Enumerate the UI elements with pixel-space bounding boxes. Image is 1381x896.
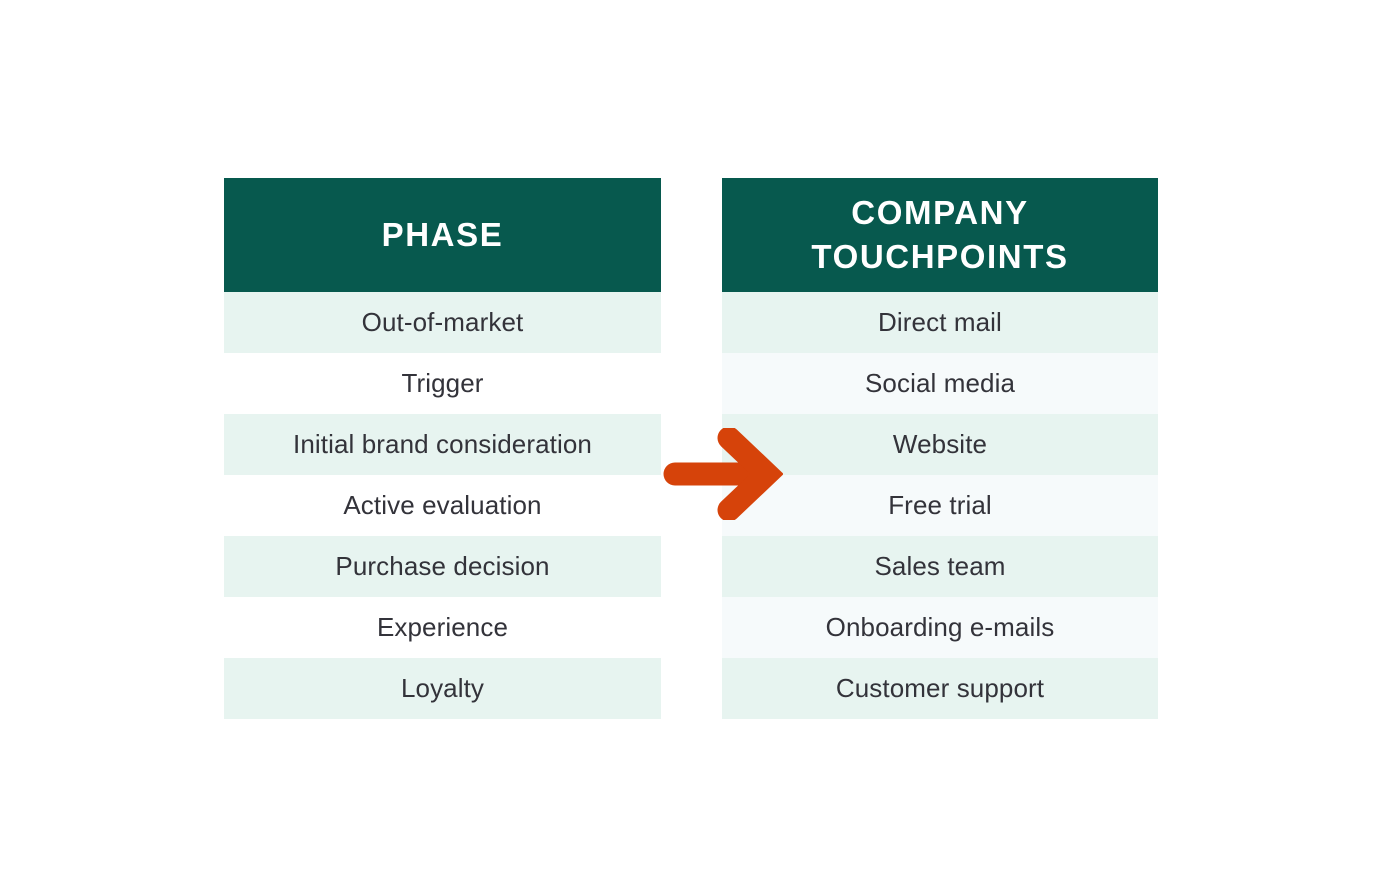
right-arrow-glyph — [663, 428, 783, 520]
phase-row-4: Active evaluation — [224, 475, 661, 536]
company-touchpoints-table: COMPANY TOUCHPOINTS Direct mail Social m… — [722, 178, 1158, 719]
phase-row-4-label: Active evaluation — [343, 490, 541, 521]
phase-table: PHASE Out-of-market Trigger Initial bran… — [224, 178, 661, 719]
touchpoints-header-line-2: TOUCHPOINTS — [811, 235, 1068, 279]
phase-row-5: Purchase decision — [224, 536, 661, 597]
phase-row-5-label: Purchase decision — [335, 551, 549, 582]
touchpoint-row-3: Website — [722, 414, 1158, 475]
phase-header-line-1: PHASE — [382, 213, 504, 257]
touchpoints-header-line-1: COMPANY — [811, 191, 1068, 235]
phase-table-header: PHASE — [224, 178, 661, 292]
touchpoint-row-4-label: Free trial — [888, 490, 992, 521]
touchpoint-row-2-label: Social media — [865, 368, 1015, 399]
touchpoint-row-5-label: Sales team — [874, 551, 1005, 582]
touchpoint-row-7-label: Customer support — [836, 673, 1044, 704]
touchpoint-row-2: Social media — [722, 353, 1158, 414]
touchpoint-row-6: Onboarding e-mails — [722, 597, 1158, 658]
phase-row-2: Trigger — [224, 353, 661, 414]
touchpoint-row-5: Sales team — [722, 536, 1158, 597]
right-arrow-icon — [663, 428, 783, 520]
phase-row-1: Out-of-market — [224, 292, 661, 353]
touchpoint-row-1-label: Direct mail — [878, 307, 1002, 338]
touchpoint-row-4: Free trial — [722, 475, 1158, 536]
touchpoint-row-3-label: Website — [893, 429, 987, 460]
touchpoint-row-7: Customer support — [722, 658, 1158, 719]
diagram-canvas: PHASE Out-of-market Trigger Initial bran… — [0, 0, 1381, 896]
company-touchpoints-table-header: COMPANY TOUCHPOINTS — [722, 178, 1158, 292]
phase-row-6-label: Experience — [377, 612, 508, 643]
phase-row-6: Experience — [224, 597, 661, 658]
phase-row-7-label: Loyalty — [401, 673, 484, 704]
phase-row-7: Loyalty — [224, 658, 661, 719]
phase-row-1-label: Out-of-market — [362, 307, 524, 338]
phase-row-2-label: Trigger — [401, 368, 483, 399]
phase-row-3-label: Initial brand consideration — [293, 429, 592, 460]
touchpoint-row-1: Direct mail — [722, 292, 1158, 353]
touchpoint-row-6-label: Onboarding e-mails — [826, 612, 1055, 643]
phase-row-3: Initial brand consideration — [224, 414, 661, 475]
